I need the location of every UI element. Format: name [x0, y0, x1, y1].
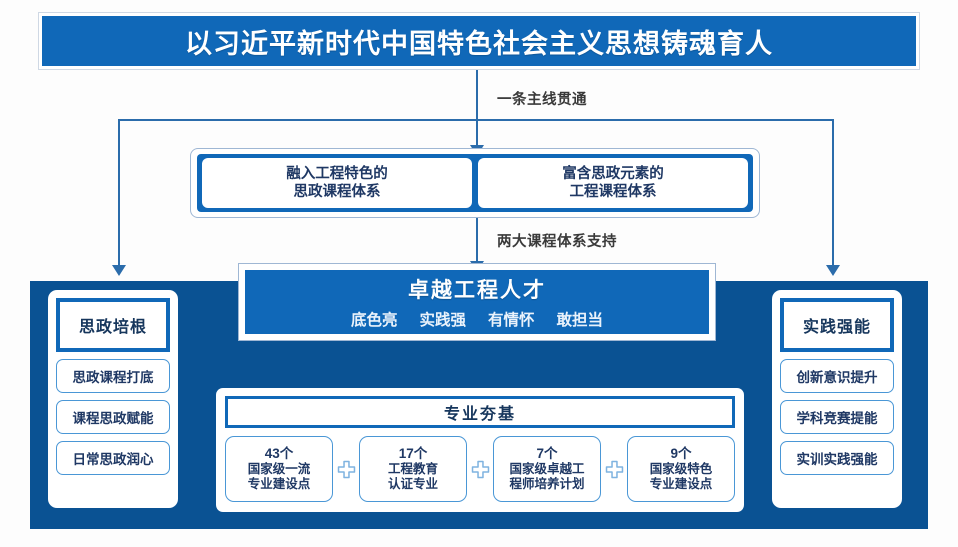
stat-desc-line1: 工程教育	[388, 462, 438, 476]
page-title: 以习近平新时代中国特色社会主义思想铸魂育人	[185, 22, 773, 61]
stat-desc-1: 国家级一流 专业建设点	[248, 462, 311, 492]
plus-icon	[467, 436, 493, 502]
connector-label-two-systems: 两大课程体系支持	[497, 230, 617, 251]
course-system-text-2: 富含思政元素的 工程课程体系	[562, 165, 664, 201]
title-banner: 以习近平新时代中国特色社会主义思想铸魂育人	[38, 12, 920, 70]
stat-count-3: 7个	[536, 446, 557, 462]
stat-desc-4: 国家级特色 专业建设点	[650, 462, 713, 492]
stat-desc-line2: 专业建设点	[248, 477, 311, 491]
course-system-line1: 融入工程特色的	[286, 166, 388, 182]
stat-desc-3: 国家级卓越工 程师培养计划	[509, 462, 584, 492]
connector-to-left-column	[118, 119, 120, 269]
course-systems-group: 融入工程特色的 思政课程体系 富含思政元素的 工程课程体系	[190, 148, 760, 218]
major-foundation-panel: 专业夯基 43个 国家级一流 专业建设点 17个 工程教育 认证专业	[216, 388, 744, 512]
stat-card-2[interactable]: 17个 工程教育 认证专业	[359, 436, 467, 502]
right-column-header: 实践强能	[780, 298, 894, 352]
course-system-line1: 富含思政元素的	[562, 166, 664, 182]
course-system-box-ideological[interactable]: 融入工程特色的 思政课程体系	[202, 158, 472, 208]
course-system-box-engineering[interactable]: 富含思政元素的 工程课程体系	[478, 158, 748, 208]
stat-desc-line2: 专业建设点	[650, 477, 713, 491]
left-column-item-3[interactable]: 日常思政润心	[56, 441, 170, 475]
major-foundation-header: 专业夯基	[225, 396, 735, 428]
left-path-column: 思政培根 思政课程打底 课程思政赋能 日常思政润心	[48, 290, 178, 508]
major-stat-cards: 43个 国家级一流 专业建设点 17个 工程教育 认证专业	[225, 436, 735, 502]
core-talent-traits: 底色亮 实践强 有情怀 敢担当	[351, 308, 603, 330]
course-system-line2: 工程课程体系	[570, 184, 657, 200]
stat-card-4[interactable]: 9个 国家级特色 专业建设点	[627, 436, 735, 502]
core-talent-fill: 卓越工程人才 底色亮 实践强 有情怀 敢担当	[245, 270, 709, 334]
title-banner-fill: 以习近平新时代中国特色社会主义思想铸魂育人	[42, 16, 916, 66]
core-talent-title: 卓越工程人才	[408, 274, 546, 304]
stat-desc-2: 工程教育 认证专业	[388, 462, 438, 492]
connector-title-to-hub	[476, 70, 478, 120]
connector-to-course-systems	[476, 119, 478, 147]
left-column-item-2[interactable]: 课程思政赋能	[56, 400, 170, 434]
course-system-text-1: 融入工程特色的 思政课程体系	[286, 165, 388, 201]
diagram-canvas: 以习近平新时代中国特色社会主义思想铸魂育人 一条主线贯通 两大课程体系支持 三大…	[0, 0, 958, 547]
right-column-item-2[interactable]: 学科竞赛提能	[780, 400, 894, 434]
right-column-item-3[interactable]: 实训实践强能	[780, 441, 894, 475]
arrow-down-icon-right	[826, 265, 840, 276]
left-column-header: 思政培根	[56, 298, 170, 352]
stat-desc-line1: 国家级卓越工	[509, 462, 584, 476]
stat-card-1[interactable]: 43个 国家级一流 专业建设点	[225, 436, 333, 502]
right-path-column: 实践强能 创新意识提升 学科竞赛提能 实训实践强能	[772, 290, 902, 508]
course-systems-bar: 融入工程特色的 思政课程体系 富含思政元素的 工程课程体系	[197, 154, 753, 212]
plus-icon	[601, 436, 627, 502]
core-talent-box: 卓越工程人才 底色亮 实践强 有情怀 敢担当	[238, 263, 716, 341]
connector-label-main-line: 一条主线贯通	[497, 88, 587, 109]
stat-desc-line1: 国家级一流	[248, 462, 311, 476]
arrow-down-icon-left	[112, 265, 126, 276]
stat-desc-line2: 程师培养计划	[509, 477, 584, 491]
stat-desc-line2: 认证专业	[388, 477, 438, 491]
core-trait: 底色亮	[351, 308, 398, 330]
connector-courses-to-core	[476, 218, 478, 263]
left-column-item-1[interactable]: 思政课程打底	[56, 359, 170, 393]
right-column-item-1[interactable]: 创新意识提升	[780, 359, 894, 393]
core-trait: 敢担当	[557, 308, 604, 330]
stat-count-2: 17个	[399, 446, 428, 462]
stat-card-3[interactable]: 7个 国家级卓越工 程师培养计划	[493, 436, 601, 502]
core-trait: 有情怀	[488, 308, 535, 330]
stat-count-4: 9个	[670, 446, 691, 462]
connector-to-right-column	[832, 119, 834, 269]
stat-count-1: 43个	[265, 446, 294, 462]
plus-icon	[333, 436, 359, 502]
core-trait: 实践强	[419, 308, 466, 330]
course-system-line2: 思政课程体系	[294, 184, 381, 200]
stat-desc-line1: 国家级特色	[650, 462, 713, 476]
